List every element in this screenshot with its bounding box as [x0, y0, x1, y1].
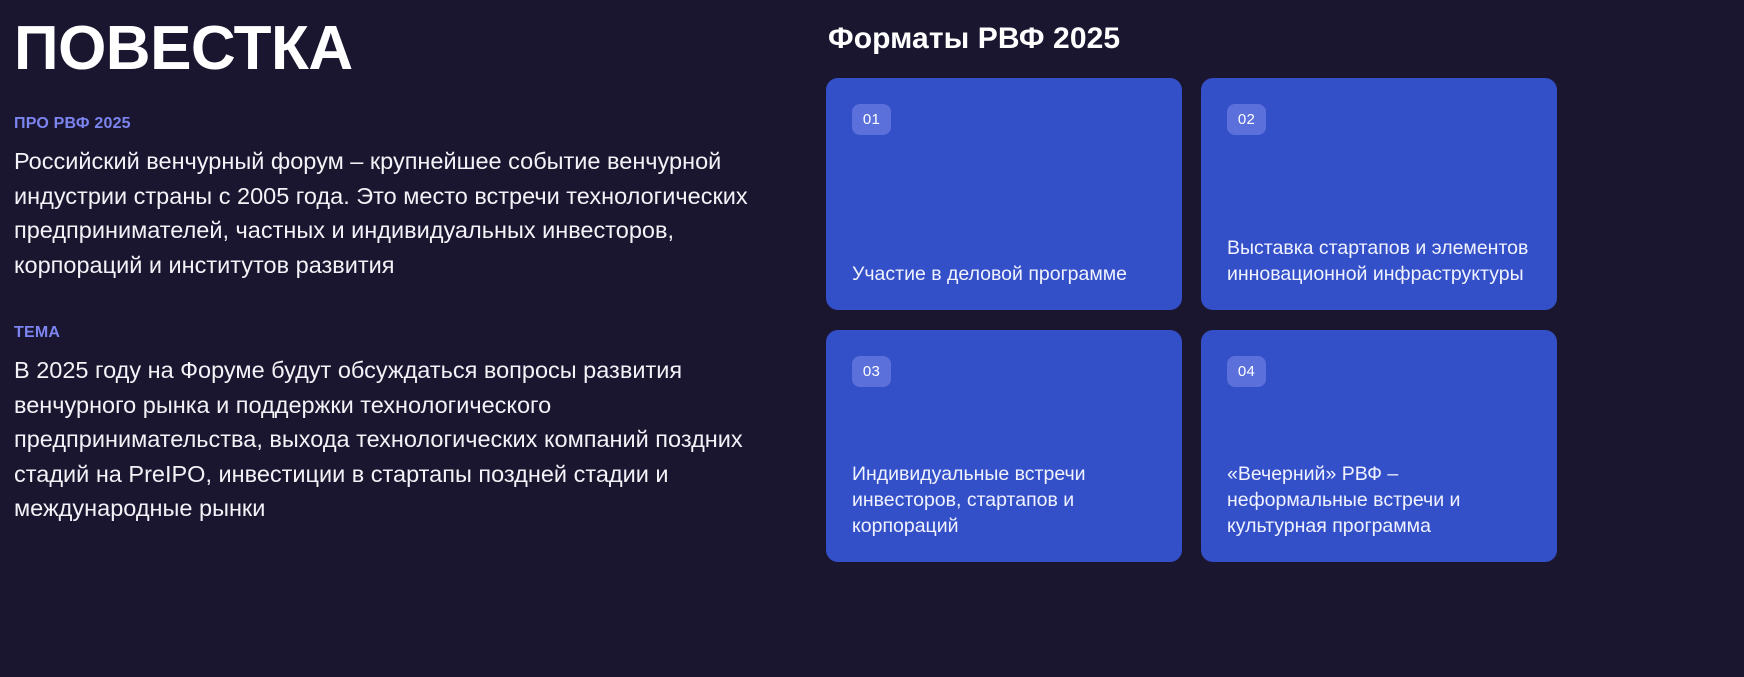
page-title: ПОВЕСТКА — [14, 16, 786, 81]
section-body-theme: В 2025 году на Форуме будут обсуждаться … — [14, 353, 786, 526]
format-card-number-badge: 04 — [1227, 356, 1266, 387]
section-about-rvf: ПРО РВФ 2025 Российский венчурный форум … — [14, 115, 786, 282]
formats-right-column: Форматы РВФ 2025 01 Участие в деловой пр… — [826, 0, 1744, 562]
format-card-label: «Вечерний» РВФ – неформальные встречи и … — [1227, 462, 1531, 540]
format-card-04[interactable]: 04 «Вечерний» РВФ – неформальные встречи… — [1201, 330, 1557, 562]
section-label-theme: ТЕМА — [14, 324, 786, 342]
section-theme: ТЕМА В 2025 году на Форуме будут обсужда… — [14, 324, 786, 526]
format-card-01[interactable]: 01 Участие в деловой программе — [826, 78, 1182, 310]
format-card-label: Индивидуальные встречи инвесторов, старт… — [852, 462, 1156, 540]
agenda-slide: ПОВЕСТКА ПРО РВФ 2025 Российский венчурн… — [0, 0, 1744, 677]
formats-card-grid: 01 Участие в деловой программе 02 Выстав… — [826, 78, 1744, 562]
agenda-left-column: ПОВЕСТКА ПРО РВФ 2025 Российский венчурн… — [0, 0, 826, 550]
formats-title: Форматы РВФ 2025 — [828, 22, 1744, 56]
format-card-number-badge: 03 — [852, 356, 891, 387]
format-card-label: Выставка стартапов и элементов инновацио… — [1227, 236, 1531, 288]
section-label-about: ПРО РВФ 2025 — [14, 115, 786, 133]
format-card-02[interactable]: 02 Выставка стартапов и элементов иннова… — [1201, 78, 1557, 310]
format-card-label: Участие в деловой программе — [852, 262, 1156, 288]
format-card-03[interactable]: 03 Индивидуальные встречи инвесторов, ст… — [826, 330, 1182, 562]
format-card-number-badge: 01 — [852, 104, 891, 135]
format-card-number-badge: 02 — [1227, 104, 1266, 135]
section-body-about: Российский венчурный форум – крупнейшее … — [14, 144, 786, 282]
